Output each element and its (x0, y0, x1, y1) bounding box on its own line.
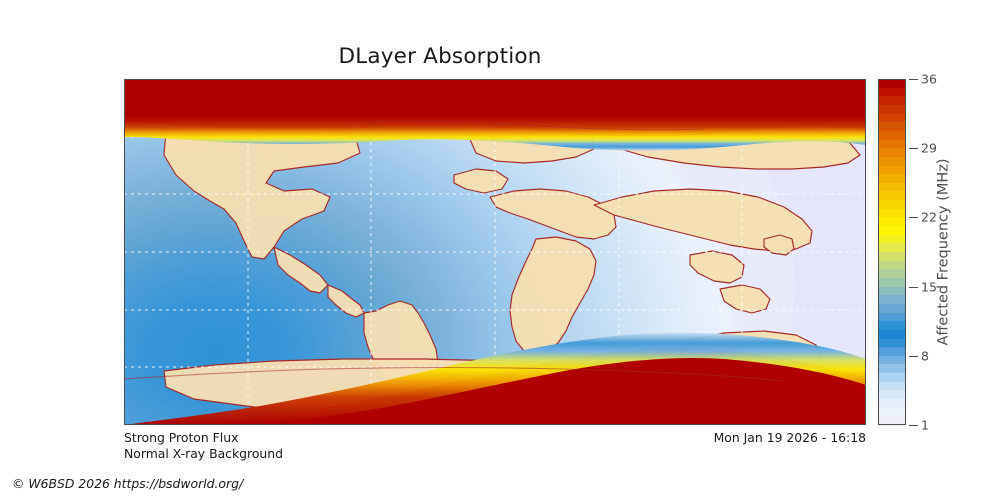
colorbar-title: Affected Frequency (MHz) (933, 79, 955, 425)
colorbar-tick (909, 148, 918, 149)
colorbar-tick (909, 356, 918, 357)
colorbar-tick-label: 1 (921, 418, 929, 433)
colorbar-tick (909, 425, 918, 426)
absorption-map (124, 79, 866, 425)
colorbar-tick (909, 287, 918, 288)
colorbar-segment (878, 416, 906, 425)
north-polar-absorption-cap (124, 79, 866, 151)
colorbar-tick (909, 217, 918, 218)
colorbar-tick-label: 36 (921, 72, 937, 87)
colorbar-tick (909, 79, 918, 80)
credit-line: © W6BSD 2026 https://bsdworld.org/ (12, 476, 243, 491)
note-xray-background: Normal X-ray Background (124, 446, 283, 461)
note-proton-flux: Strong Proton Flux (124, 430, 238, 445)
timestamp: Mon Jan 19 2026 - 16:18 (714, 430, 866, 445)
colorbar-tick-label: 8 (921, 348, 929, 363)
page-title: DLayer Absorption (0, 44, 880, 69)
colorbar-tick-label: 22 (921, 210, 937, 225)
colorbar-tick-label: 15 (921, 279, 937, 294)
colorbar-title-label: Affected Frequency (MHz) (936, 158, 952, 345)
colorbar (878, 79, 906, 425)
colorbar-tick-label: 29 (921, 141, 937, 156)
